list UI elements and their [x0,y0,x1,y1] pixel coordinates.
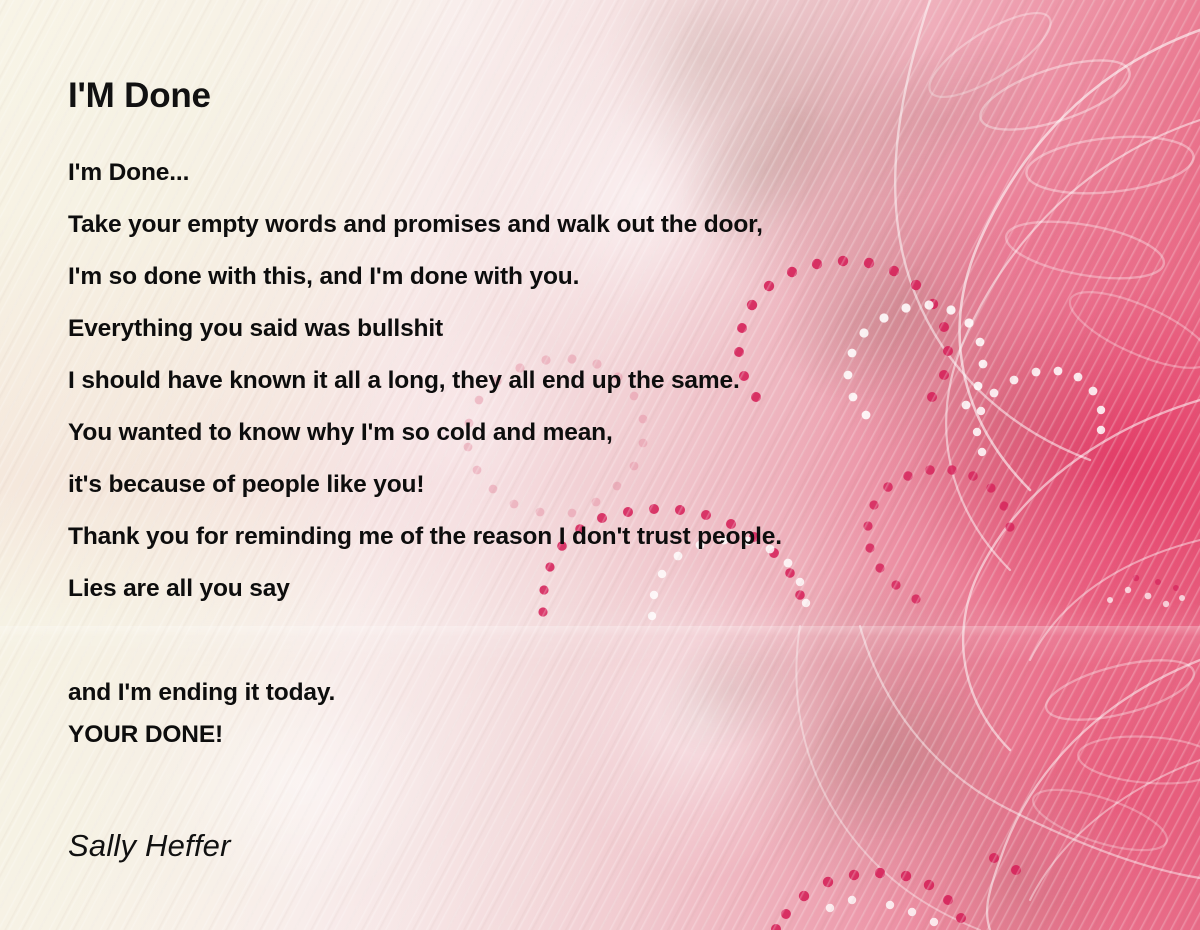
poem-line: YOUR DONE! [68,719,1128,761]
poem-line-blank [68,625,1128,677]
poem-line: I should have known it all a long, they … [68,365,1128,417]
poem-line: and I'm ending it today. [68,677,1128,719]
dotted-accents-white-bottom [826,896,938,926]
dotted-heart-crimson-bottom [771,853,1021,930]
poem-line: Lies are all you say [68,573,1128,625]
poem-line: Everything you said was bullshit [68,313,1128,365]
poem-line: I'm Done... [68,157,1128,209]
poem-line: You wanted to know why I'm so cold and m… [68,417,1128,469]
poem-line: Take your empty words and promises and w… [68,209,1128,261]
poem-page: I'M Done I'm Done... Take your empty wor… [0,0,1200,930]
poem-line: I'm so done with this, and I'm done with… [68,261,1128,313]
page-title: I'M Done [68,76,211,116]
poem-body: I'm Done... Take your empty words and pr… [68,157,1128,761]
poem-line: it's because of people like you! [68,469,1128,521]
author-signature: Sally Heffer [68,828,231,864]
bloom-speckles-crimson [1133,575,1179,591]
poem-line: Thank you for reminding me of the reason… [68,521,1128,573]
